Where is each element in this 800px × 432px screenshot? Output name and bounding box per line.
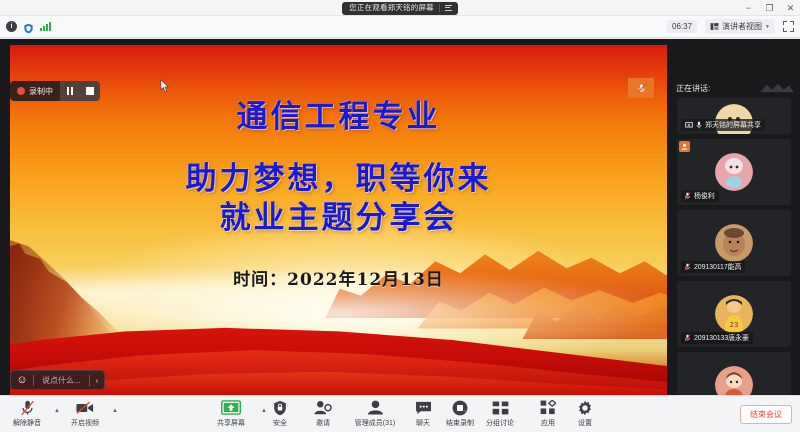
divider <box>439 4 440 12</box>
toolbar-label: 结束录制 <box>446 418 474 428</box>
participant-tile[interactable]: 23 209130133唐永豪 <box>677 281 791 347</box>
participant-name: 郑天铭的屏幕共享 <box>705 120 761 130</box>
participants-panel: 正在讲话: 郑天铭的屏幕共享 <box>668 78 800 432</box>
recording-dot-icon <box>17 87 25 95</box>
security-shield-icon <box>273 399 287 416</box>
toolbar-mute-button[interactable]: 解除静音 <box>4 399 50 428</box>
toolbar-share-screen-button[interactable]: 共享屏幕 <box>203 399 259 428</box>
breakout-rooms-icon <box>492 399 509 416</box>
toolbar-label: 邀请 <box>316 418 330 428</box>
recording-bar: 录制中 <box>10 81 100 101</box>
participant-tile[interactable]: 杨俊利 <box>677 139 791 205</box>
stop-recording-button[interactable] <box>80 81 100 101</box>
participant-tile[interactable]: 209130117能高 <box>677 210 791 276</box>
slide-subtitle-2: 就业主题分享会 <box>10 201 667 235</box>
stop-icon <box>86 87 94 95</box>
view-mode-selector[interactable]: 演讲者视图 ▼ <box>705 19 775 34</box>
toolbar-label: 安全 <box>273 418 287 428</box>
quick-chat-input[interactable]: ☺ 说点什么... ‹ <box>10 370 105 390</box>
slide-title: 通信工程专业 <box>10 100 667 134</box>
manage-participants-icon <box>367 399 384 416</box>
slide-text-block: 通信工程专业 助力梦想，职等你来 就业主题分享会 时间：2022年12月13日 <box>10 45 667 290</box>
title-bar: 您正在观看郑天铭的屏幕 − ❐ ✕ <box>0 0 800 16</box>
mic-icon <box>696 121 702 129</box>
participant-name: 209130133唐永豪 <box>694 333 749 343</box>
participant-name-tag: 209130117能高 <box>681 261 745 273</box>
video-options-chevron-icon[interactable]: ▲ <box>112 408 118 414</box>
mic-muted-icon <box>20 399 35 416</box>
toolbar-label: 管理成员(31) <box>355 418 395 428</box>
close-button[interactable]: ✕ <box>785 3 796 14</box>
avatar: 23 <box>715 295 753 333</box>
mic-muted-icon <box>684 192 691 200</box>
participant-tile-share[interactable]: 郑天铭的屏幕共享 <box>677 98 791 134</box>
toolbar-label: 应用 <box>541 418 555 428</box>
host-icon <box>679 141 690 152</box>
toolbar-label: 设置 <box>578 418 592 428</box>
smiley-icon[interactable]: ☺ <box>11 374 33 386</box>
meeting-window: 您正在观看郑天铭的屏幕 − ❐ ✕ i 06:37 演讲者视图 ▼ <box>0 0 800 432</box>
participant-name-tag: 杨俊利 <box>681 190 719 202</box>
shared-screen-slide[interactable]: 通信工程专业 助力梦想，职等你来 就业主题分享会 时间：2022年12月13日 <box>10 45 667 395</box>
speaking-header: 正在讲话: <box>668 78 800 98</box>
toolbar-settings-button[interactable]: 设置 <box>562 399 608 428</box>
gear-icon <box>577 399 593 416</box>
participant-list[interactable]: 郑天铭的屏幕共享 杨俊利 <box>672 98 796 432</box>
signal-bars-icon[interactable] <box>40 22 51 31</box>
status-bar: i 06:37 演讲者视图 ▼ <box>0 16 800 38</box>
screen-share-icon <box>221 399 241 416</box>
chevron-down-icon[interactable]: ▼ <box>765 24 770 30</box>
share-notice-text: 您正在观看郑天铭的屏幕 <box>349 3 434 13</box>
audio-waveform-icon <box>760 82 794 94</box>
speaker-view-icon <box>710 22 719 31</box>
meeting-toolbar: 解除静音 ▲ 开启视频 ▲ 共享屏幕 ▲ 安全 邀请 <box>0 395 800 432</box>
slide-subtitle-1: 助力梦想，职等你来 <box>10 162 667 196</box>
hamburger-icon[interactable] <box>445 5 452 11</box>
window-controls: − ❐ ✕ <box>743 0 796 16</box>
end-meeting-button[interactable]: 结束会议 <box>740 405 792 424</box>
avatar <box>715 153 753 191</box>
mic-muted-icon <box>684 263 691 271</box>
speaking-label: 正在讲话: <box>668 83 710 94</box>
fullscreen-icon[interactable] <box>783 21 794 32</box>
toolbar-breakout-rooms-button[interactable]: 分组讨论 <box>472 399 528 428</box>
toolbar-label: 共享屏幕 <box>217 418 245 428</box>
screen-share-notice[interactable]: 您正在观看郑天铭的屏幕 <box>342 2 458 15</box>
restore-button[interactable]: ❐ <box>764 3 775 14</box>
toolbar-label: 解除静音 <box>13 418 41 428</box>
mic-muted-icon <box>684 334 691 342</box>
toolbar-label: 聊天 <box>416 418 430 428</box>
recording-status: 录制中 <box>10 81 60 101</box>
video-off-icon <box>76 399 94 416</box>
pause-recording-button[interactable] <box>60 81 80 101</box>
record-options-chevron-icon[interactable]: ▲ <box>462 408 468 414</box>
mouse-cursor <box>160 79 170 93</box>
mic-options-chevron-icon[interactable]: ▲ <box>54 408 60 414</box>
toolbar-label: 开启视频 <box>71 418 99 428</box>
recording-label: 录制中 <box>29 86 53 97</box>
info-icon[interactable]: i <box>6 21 17 32</box>
minimize-button[interactable]: − <box>743 3 754 14</box>
collapse-chat-icon[interactable]: ‹ <box>90 376 105 385</box>
status-icons: i <box>6 21 51 32</box>
apps-grid-icon <box>540 399 556 416</box>
meeting-stage: 通信工程专业 助力梦想，职等你来 就业主题分享会 时间：2022年12月13日 … <box>0 39 800 395</box>
invite-person-icon <box>314 399 332 416</box>
mic-muted-icon[interactable] <box>628 78 654 98</box>
chat-bubble-icon <box>415 399 432 416</box>
toolbar-security-button[interactable]: 安全 <box>257 399 303 428</box>
status-right: 06:37 演讲者视图 ▼ <box>667 19 794 34</box>
participant-name: 209130117能高 <box>694 262 741 272</box>
participant-name: 杨俊利 <box>694 191 715 201</box>
view-mode-label: 演讲者视图 <box>722 21 762 32</box>
avatar <box>715 224 753 262</box>
meeting-timer: 06:37 <box>667 20 697 33</box>
toolbar-video-button[interactable]: 开启视频 <box>62 399 108 428</box>
shield-icon[interactable] <box>23 21 34 32</box>
participant-name-tag: 209130133唐永豪 <box>681 332 753 344</box>
svg-text:23: 23 <box>730 321 739 329</box>
share-name-tag: 郑天铭的屏幕共享 <box>681 119 765 131</box>
slide-date: 时间：2022年12月13日 <box>10 265 667 290</box>
chat-placeholder: 说点什么... <box>34 375 89 386</box>
pause-icon <box>67 87 73 95</box>
toolbar-label: 分组讨论 <box>486 418 514 428</box>
screen-share-icon <box>685 122 693 129</box>
